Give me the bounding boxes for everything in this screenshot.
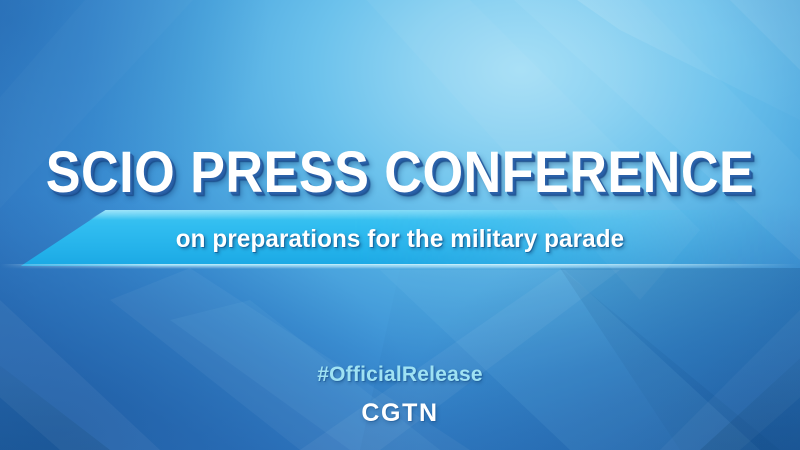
cgtn-logo: CGTN [0,399,800,427]
hashtag-label: #OfficialRelease [0,363,800,387]
subtitle: on preparations for the military parade [12,224,788,254]
text-content: SCIO PRESS CONFERENCE on preparations fo… [0,0,800,450]
main-title: SCIO PRESS CONFERENCE [40,144,760,202]
broadcast-title-card: SCIO PRESS CONFERENCE on preparations fo… [0,0,800,450]
